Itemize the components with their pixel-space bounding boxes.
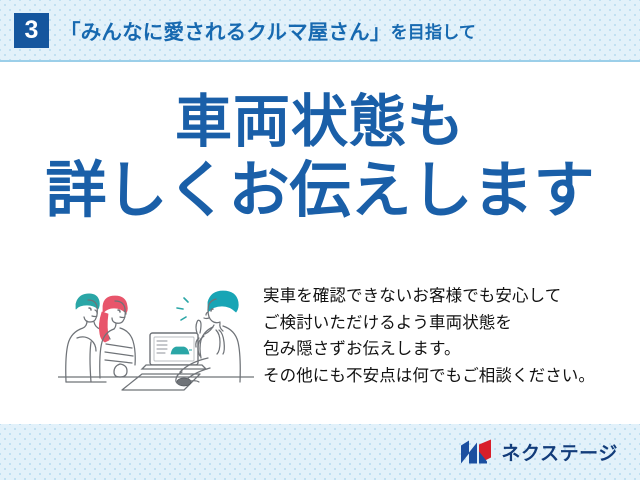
footer-band: ネクステージ	[0, 424, 640, 480]
body-copy-line: 実車を確認できないお客様でも安心して	[263, 283, 619, 310]
nextage-logo: ネクステージ	[460, 439, 618, 466]
staff-index-finger	[196, 320, 201, 333]
step-number-badge: 3	[14, 13, 49, 48]
staff-arm-raised	[198, 336, 204, 356]
body-copy-line: ご検討いただけるよう車両状態を	[263, 310, 619, 337]
page-title: 車両状態も 詳しくお伝えします	[0, 92, 640, 223]
header-title-emphasis: 「みんなに愛されるクルマ屋さん」	[60, 15, 391, 45]
headline-line-1: 車両状態も	[0, 92, 640, 152]
header-band: 3 「みんなに愛されるクルマ屋さん」 を目指して	[0, 0, 640, 62]
promo-slide: 3 「みんなに愛されるクルマ屋さん」 を目指して 車両状態も 詳しくお伝えします	[0, 0, 640, 480]
body-copy: 実車を確認できないお客様でも安心して ご検討いただけるよう車両状態を 包み隠さず…	[263, 283, 619, 390]
staff-jacket-left	[200, 327, 213, 358]
header-title: 「みんなに愛されるクルマ屋さん」 を目指して	[60, 0, 476, 60]
nextstage-logo-text: ネクステージ	[501, 439, 618, 466]
male-customer-body	[66, 321, 87, 382]
body-copy-line: 包み隠さずお伝えします。	[263, 336, 619, 363]
mouse	[177, 378, 199, 386]
body-copy-line: その他にも不安点は何でもご相談ください。	[263, 363, 619, 390]
headline-line-2: 詳しくお伝えします	[0, 158, 640, 223]
female-customer-hands	[114, 364, 127, 377]
emphasis-marks	[177, 298, 188, 320]
nextstage-n-mark	[460, 440, 494, 465]
consultation-illustration	[58, 278, 254, 394]
laptop	[142, 333, 206, 369]
staff-jacket-right	[223, 326, 240, 382]
male-customer-hair	[76, 294, 99, 309]
header-title-tail: を目指して	[391, 18, 477, 43]
